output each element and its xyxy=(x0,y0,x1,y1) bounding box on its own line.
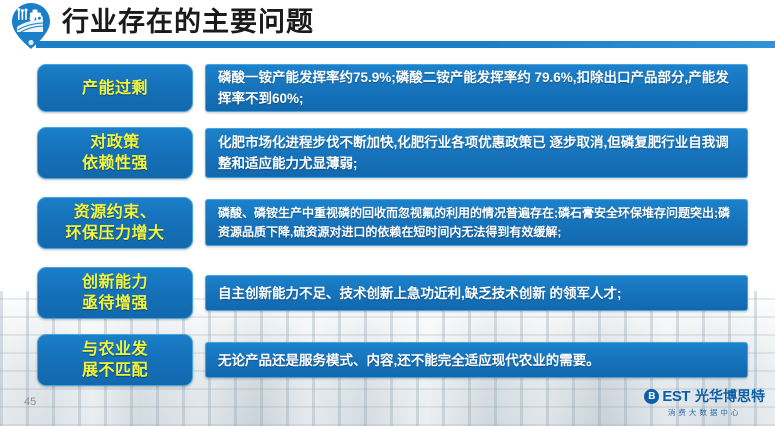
header-divider-accent xyxy=(36,41,775,48)
problem-content-text: 无论产品还是服务模式、内容,还不能完全适应现代农业的需要。 xyxy=(218,350,600,371)
problem-content-box[interactable]: 磷酸、磷铵生产中重视磷的回收而忽视氟的利用的情况普遍存在;磷石膏安全环保堆存问题… xyxy=(205,199,748,246)
problem-label-text: 创新能力亟待增强 xyxy=(82,272,148,314)
agriculture-map-pin-icon xyxy=(8,2,54,50)
slide-canvas: 行业存在的主要问题 产能过剩 磷酸一铵产能发挥率约75.9%;磷酸二铵产能发挥率… xyxy=(0,0,775,426)
slide-header: 行业存在的主要问题 xyxy=(0,0,775,48)
problem-label-text: 对政策依赖性强 xyxy=(82,132,148,174)
problem-content-text: 自主创新能力不足、技术创新上急功近利,缺乏技术创新 的领军人才; xyxy=(218,283,622,304)
problem-content-box[interactable]: 无论产品还是服务模式、内容,还不能完全适应现代农业的需要。 xyxy=(205,342,748,378)
problem-label-box[interactable]: 产能过剩 xyxy=(37,64,193,112)
brand-est-text: EST xyxy=(662,388,690,405)
brand-logo-main: B EST 光华博思特 xyxy=(644,386,765,406)
page-title: 行业存在的主要问题 xyxy=(62,4,314,40)
problem-content-box[interactable]: 化肥市场化进程步伐不断加快,化肥行业各项优惠政策已 逐步取消,但磷复肥行业自我调… xyxy=(205,128,748,178)
problem-label-box[interactable]: 创新能力亟待增强 xyxy=(37,267,193,319)
problem-label-text: 产能过剩 xyxy=(82,78,148,99)
problem-label-text: 与农业发展不匹配 xyxy=(82,339,148,381)
problem-label-text: 资源约束、环保压力增大 xyxy=(65,202,164,244)
problem-content-text: 化肥市场化进程步伐不断加快,化肥行业各项优惠政策已 逐步取消,但磷复肥行业自我调… xyxy=(218,132,737,174)
brand-circle-b-icon: B xyxy=(644,389,659,404)
brand-subtitle-text: 消费大数据中心 xyxy=(668,407,742,418)
problem-label-box[interactable]: 资源约束、环保压力增大 xyxy=(37,197,193,249)
page-number: 45 xyxy=(24,396,36,408)
problem-content-box[interactable]: 磷酸一铵产能发挥率约75.9%;磷酸二铵产能发挥率约 79.6%,扣除出口产品部… xyxy=(205,64,748,112)
brand-logo: B EST 光华博思特 消费大数据中心 xyxy=(644,386,765,418)
problem-content-text: 磷酸一铵产能发挥率约75.9%;磷酸二铵产能发挥率约 79.6%,扣除出口产品部… xyxy=(218,67,737,109)
problem-content-box[interactable]: 自主创新能力不足、技术创新上急功近利,缺乏技术创新 的领军人才; xyxy=(205,275,748,311)
problem-content-text: 磷酸、磷铵生产中重视磷的回收而忽视氟的利用的情况普遍存在;磷石膏安全环保堆存问题… xyxy=(218,204,737,242)
problem-label-box[interactable]: 对政策依赖性强 xyxy=(37,127,193,179)
brand-name-text: 光华博思特 xyxy=(695,386,765,406)
problem-label-box[interactable]: 与农业发展不匹配 xyxy=(37,334,193,386)
